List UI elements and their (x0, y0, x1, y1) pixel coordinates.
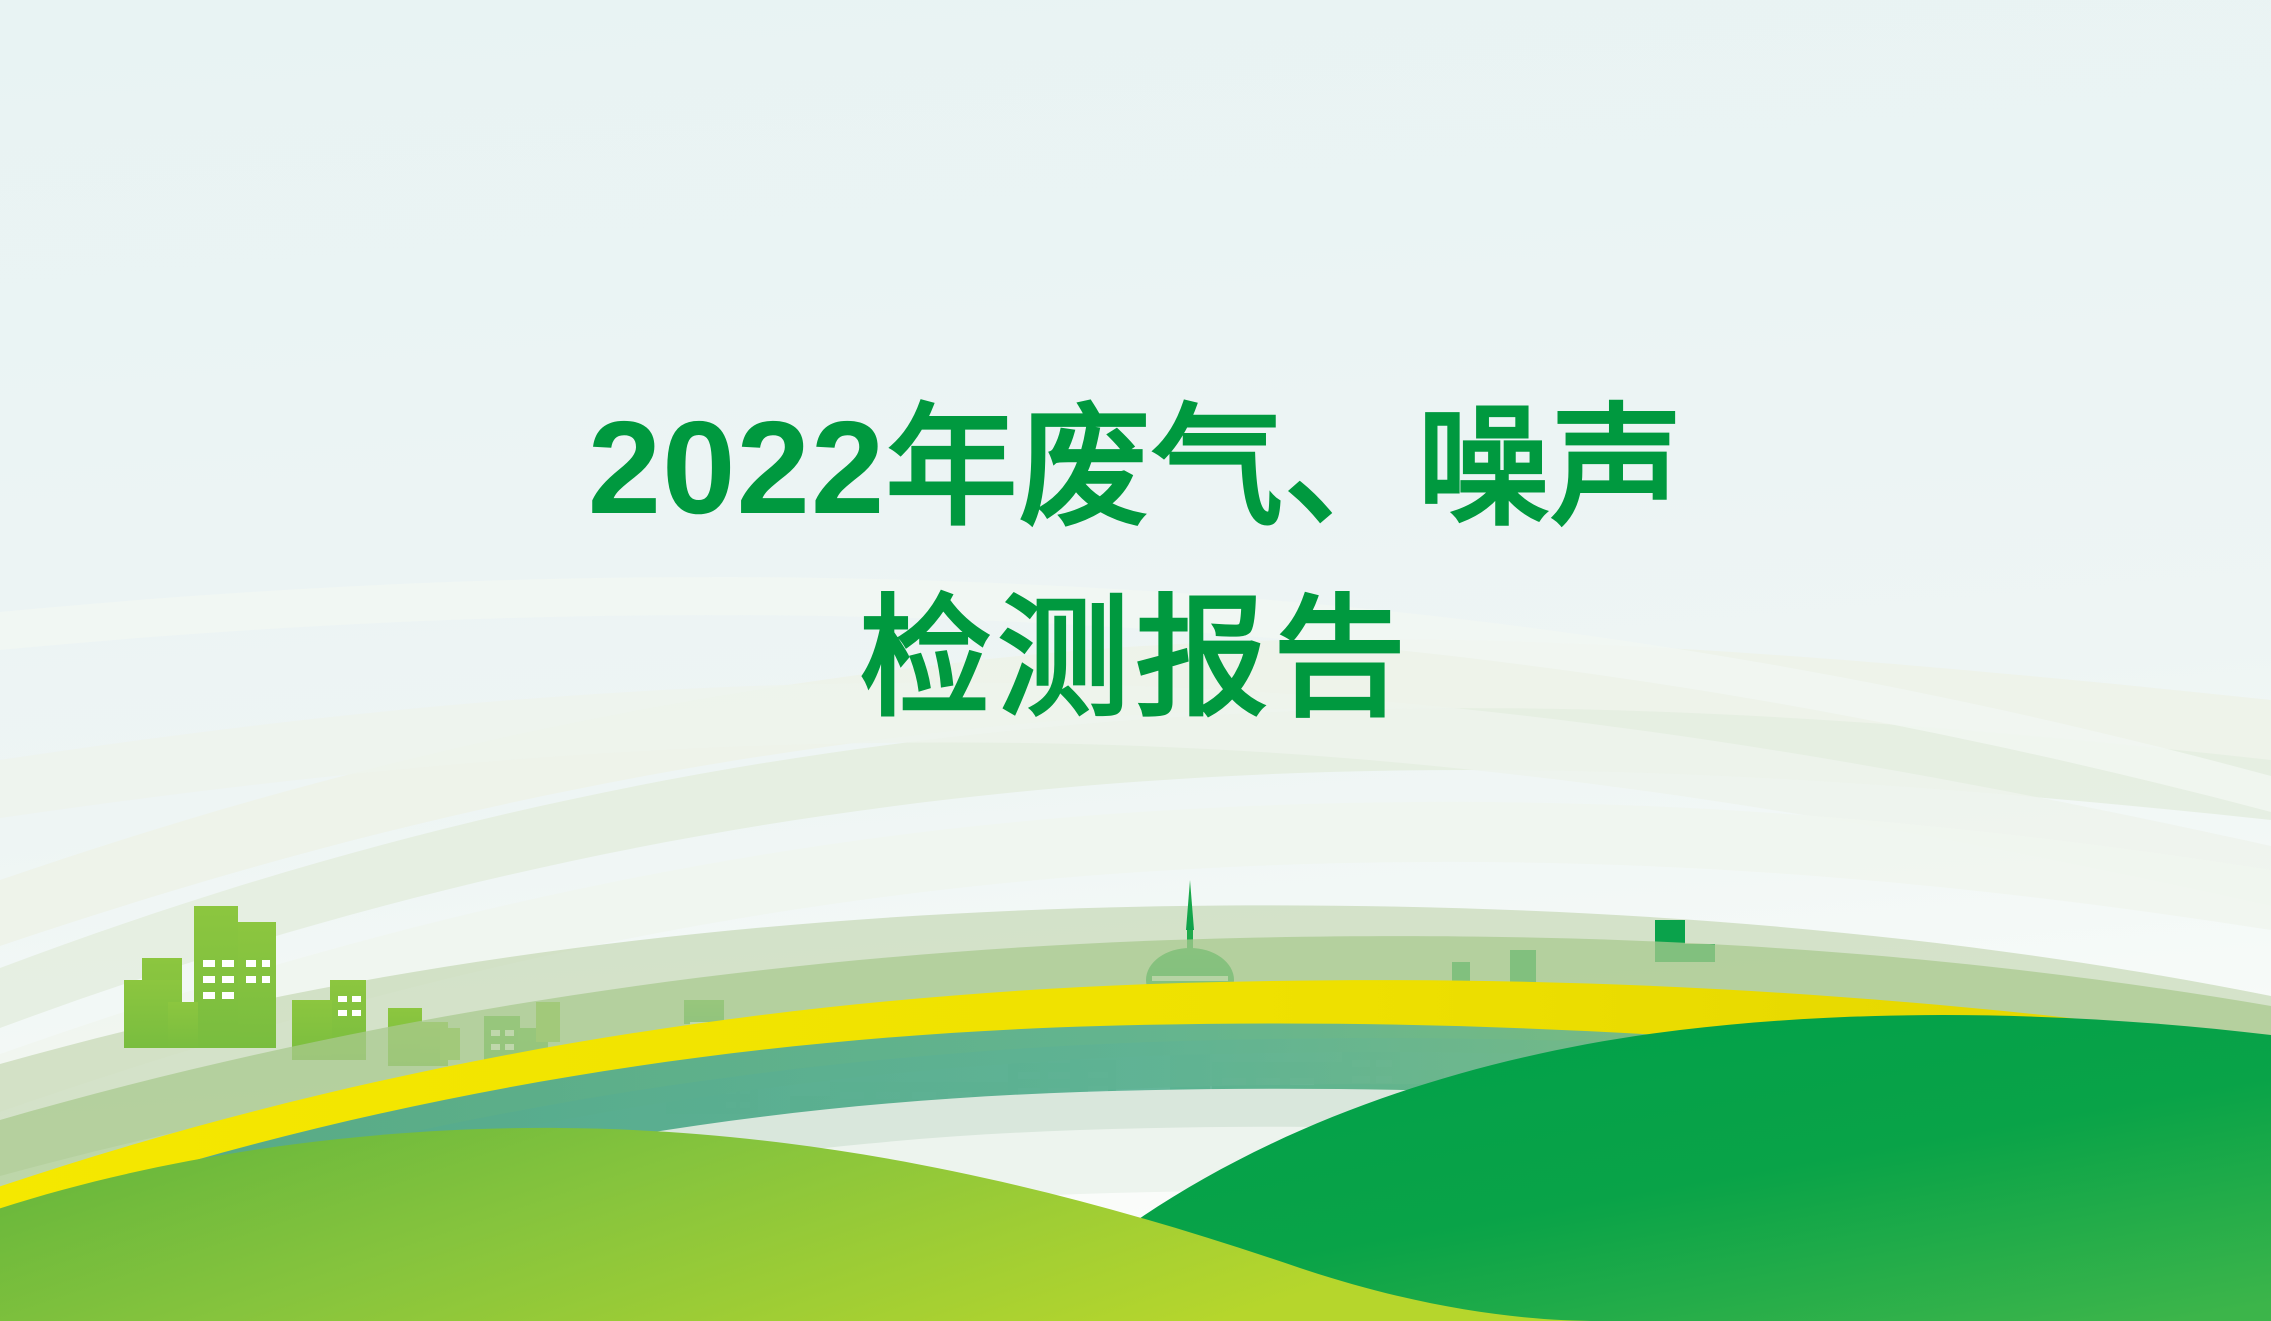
building-group-left-2 (292, 980, 366, 1060)
slide-title: 2022年废气、噪声 检测报告 (0, 372, 2271, 755)
building-group-left-3 (388, 1008, 448, 1066)
slide-title-line-2: 检测报告 (0, 563, 2271, 754)
cover-slide: 2022年废气、噪声 检测报告 (0, 0, 2271, 1321)
building-windows-row (840, 1092, 972, 1131)
tv-tower (1146, 880, 1234, 1150)
slide-title-line-1: 2022年废气、噪声 (0, 372, 2271, 563)
sage-band (0, 936, 2271, 1190)
teal-wave-band (0, 1023, 2271, 1321)
building-group-mid-1 (484, 1016, 548, 1094)
skyline-haze-band (0, 905, 2271, 1176)
building-windows-left (203, 960, 270, 999)
building-group-far-right-light (440, 1002, 560, 1060)
building-group-row (790, 1082, 1010, 1140)
building-windows-tower-left (1018, 1056, 1108, 1127)
city-skyline-silhouette (124, 880, 1715, 1150)
building-windows-tower-right (1222, 1060, 1392, 1117)
building-group-left (124, 906, 276, 1048)
building-group-tower-right (1212, 1042, 1444, 1148)
tv-tower-rings (1152, 976, 1228, 993)
green-hill-right (960, 1015, 2271, 1321)
building-group-far-right (1452, 920, 1715, 988)
mint-wave-band (0, 1089, 2271, 1321)
olive-band (0, 1038, 2271, 1310)
building-windows-left-2 (338, 996, 361, 1016)
yellow-wave-band (0, 980, 2271, 1278)
green-hill-foreground (0, 1128, 1600, 1321)
building-windows-mid-1 (491, 1030, 514, 1064)
building-group-mid-2 (666, 1000, 758, 1114)
building-windows-mid-2 (690, 1022, 750, 1108)
building-group-tower-left (1008, 1032, 1116, 1142)
